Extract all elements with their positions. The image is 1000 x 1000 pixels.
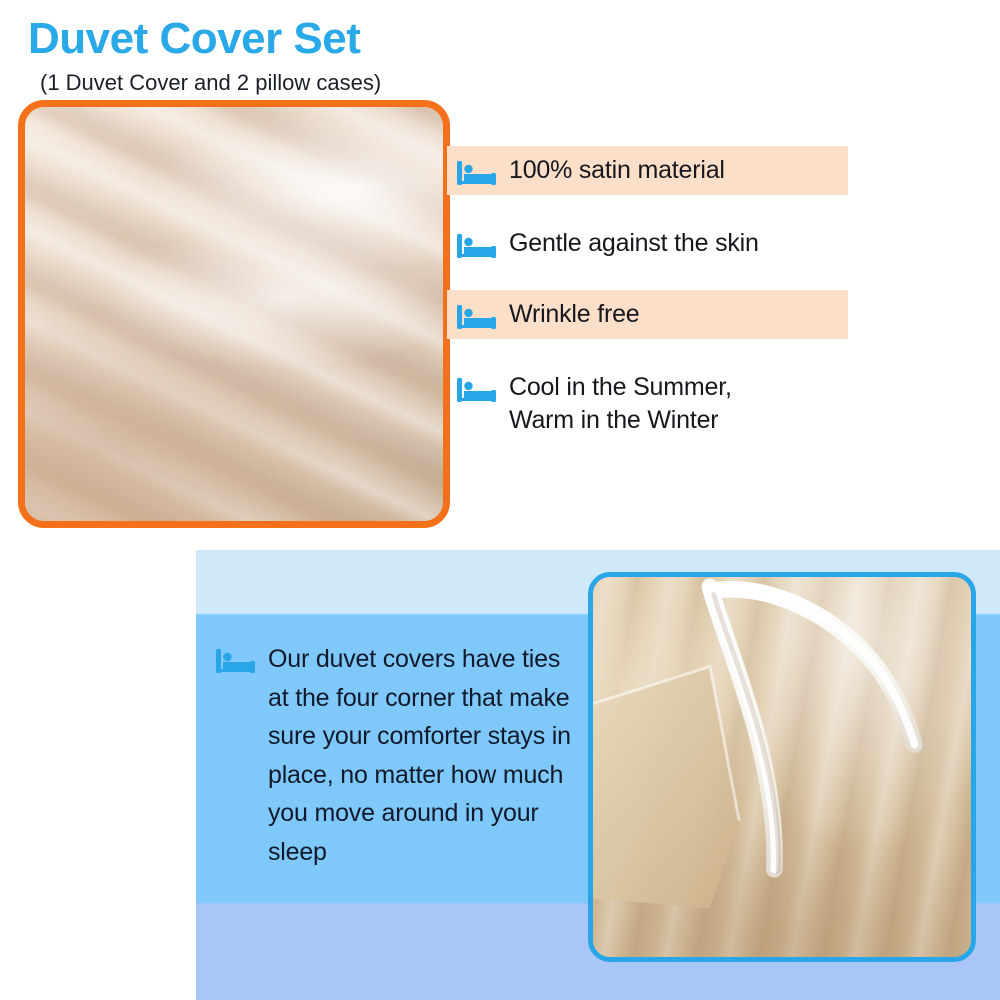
tie-feature-text-block: Our duvet covers have ties at the four c… <box>216 640 586 871</box>
satin-fabric-texture <box>25 107 443 521</box>
bed-icon <box>457 158 499 188</box>
page-title: Duvet Cover Set <box>28 16 458 62</box>
feature-label: 100% satin material <box>509 153 725 187</box>
bed-icon <box>216 646 258 676</box>
feature-list: 100% satin material Gentle against the s… <box>447 146 967 444</box>
feature-item: Wrinkle free <box>447 290 848 339</box>
feature-label: Gentle against the skin <box>509 226 759 260</box>
bed-icon <box>457 302 499 332</box>
duvet-corner-ties-photo <box>588 572 976 962</box>
feature-label: Wrinkle free <box>509 297 640 331</box>
feature-item: 100% satin material <box>447 146 848 195</box>
feature-label: Cool in the Summer, Warm in the Winter <box>509 370 732 437</box>
feature-item: Cool in the Summer, Warm in the Winter <box>447 363 967 444</box>
bed-icon <box>457 231 499 261</box>
satin-fabric-photo <box>18 100 450 528</box>
tie-feature-description: Our duvet covers have ties at the four c… <box>268 640 586 871</box>
page-subtitle: (1 Duvet Cover and 2 pillow cases) <box>40 70 460 96</box>
ribbon-ties-illustration <box>593 577 971 957</box>
bed-icon <box>457 375 499 405</box>
product-infographic: Duvet Cover Set (1 Duvet Cover and 2 pil… <box>0 0 1000 1000</box>
feature-item: Gentle against the skin <box>447 219 967 268</box>
